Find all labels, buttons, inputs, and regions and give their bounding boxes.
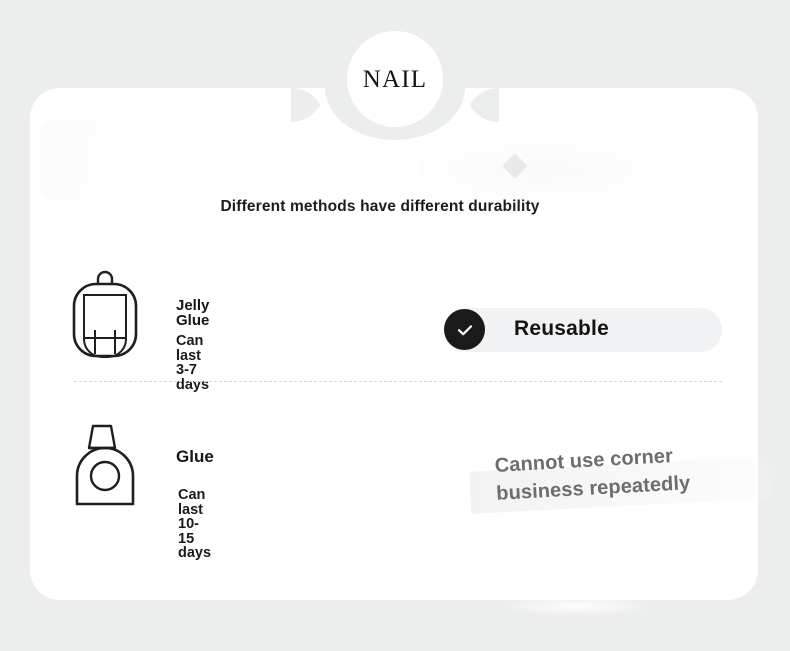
glue-title: Glue xyxy=(176,448,214,465)
jelly-glue-title: Jelly Glue xyxy=(176,298,209,328)
glue-duration: Can last 10-15 days xyxy=(178,488,211,561)
glue-bottle-icon xyxy=(64,418,146,510)
row-divider xyxy=(74,381,722,382)
brand-name: NAIL xyxy=(363,67,428,92)
jelly-glue-duration: Can last 3-7 days xyxy=(176,334,209,392)
jelly-glue-tab-icon xyxy=(64,268,146,360)
product-info-panel: NAIL Different methods have different du… xyxy=(0,0,790,651)
check-circle-icon xyxy=(444,309,485,350)
brand-badge: NAIL xyxy=(347,31,443,127)
page-title: Different methods have different durabil… xyxy=(0,198,760,216)
reusable-badge-label: Reusable xyxy=(514,317,609,341)
